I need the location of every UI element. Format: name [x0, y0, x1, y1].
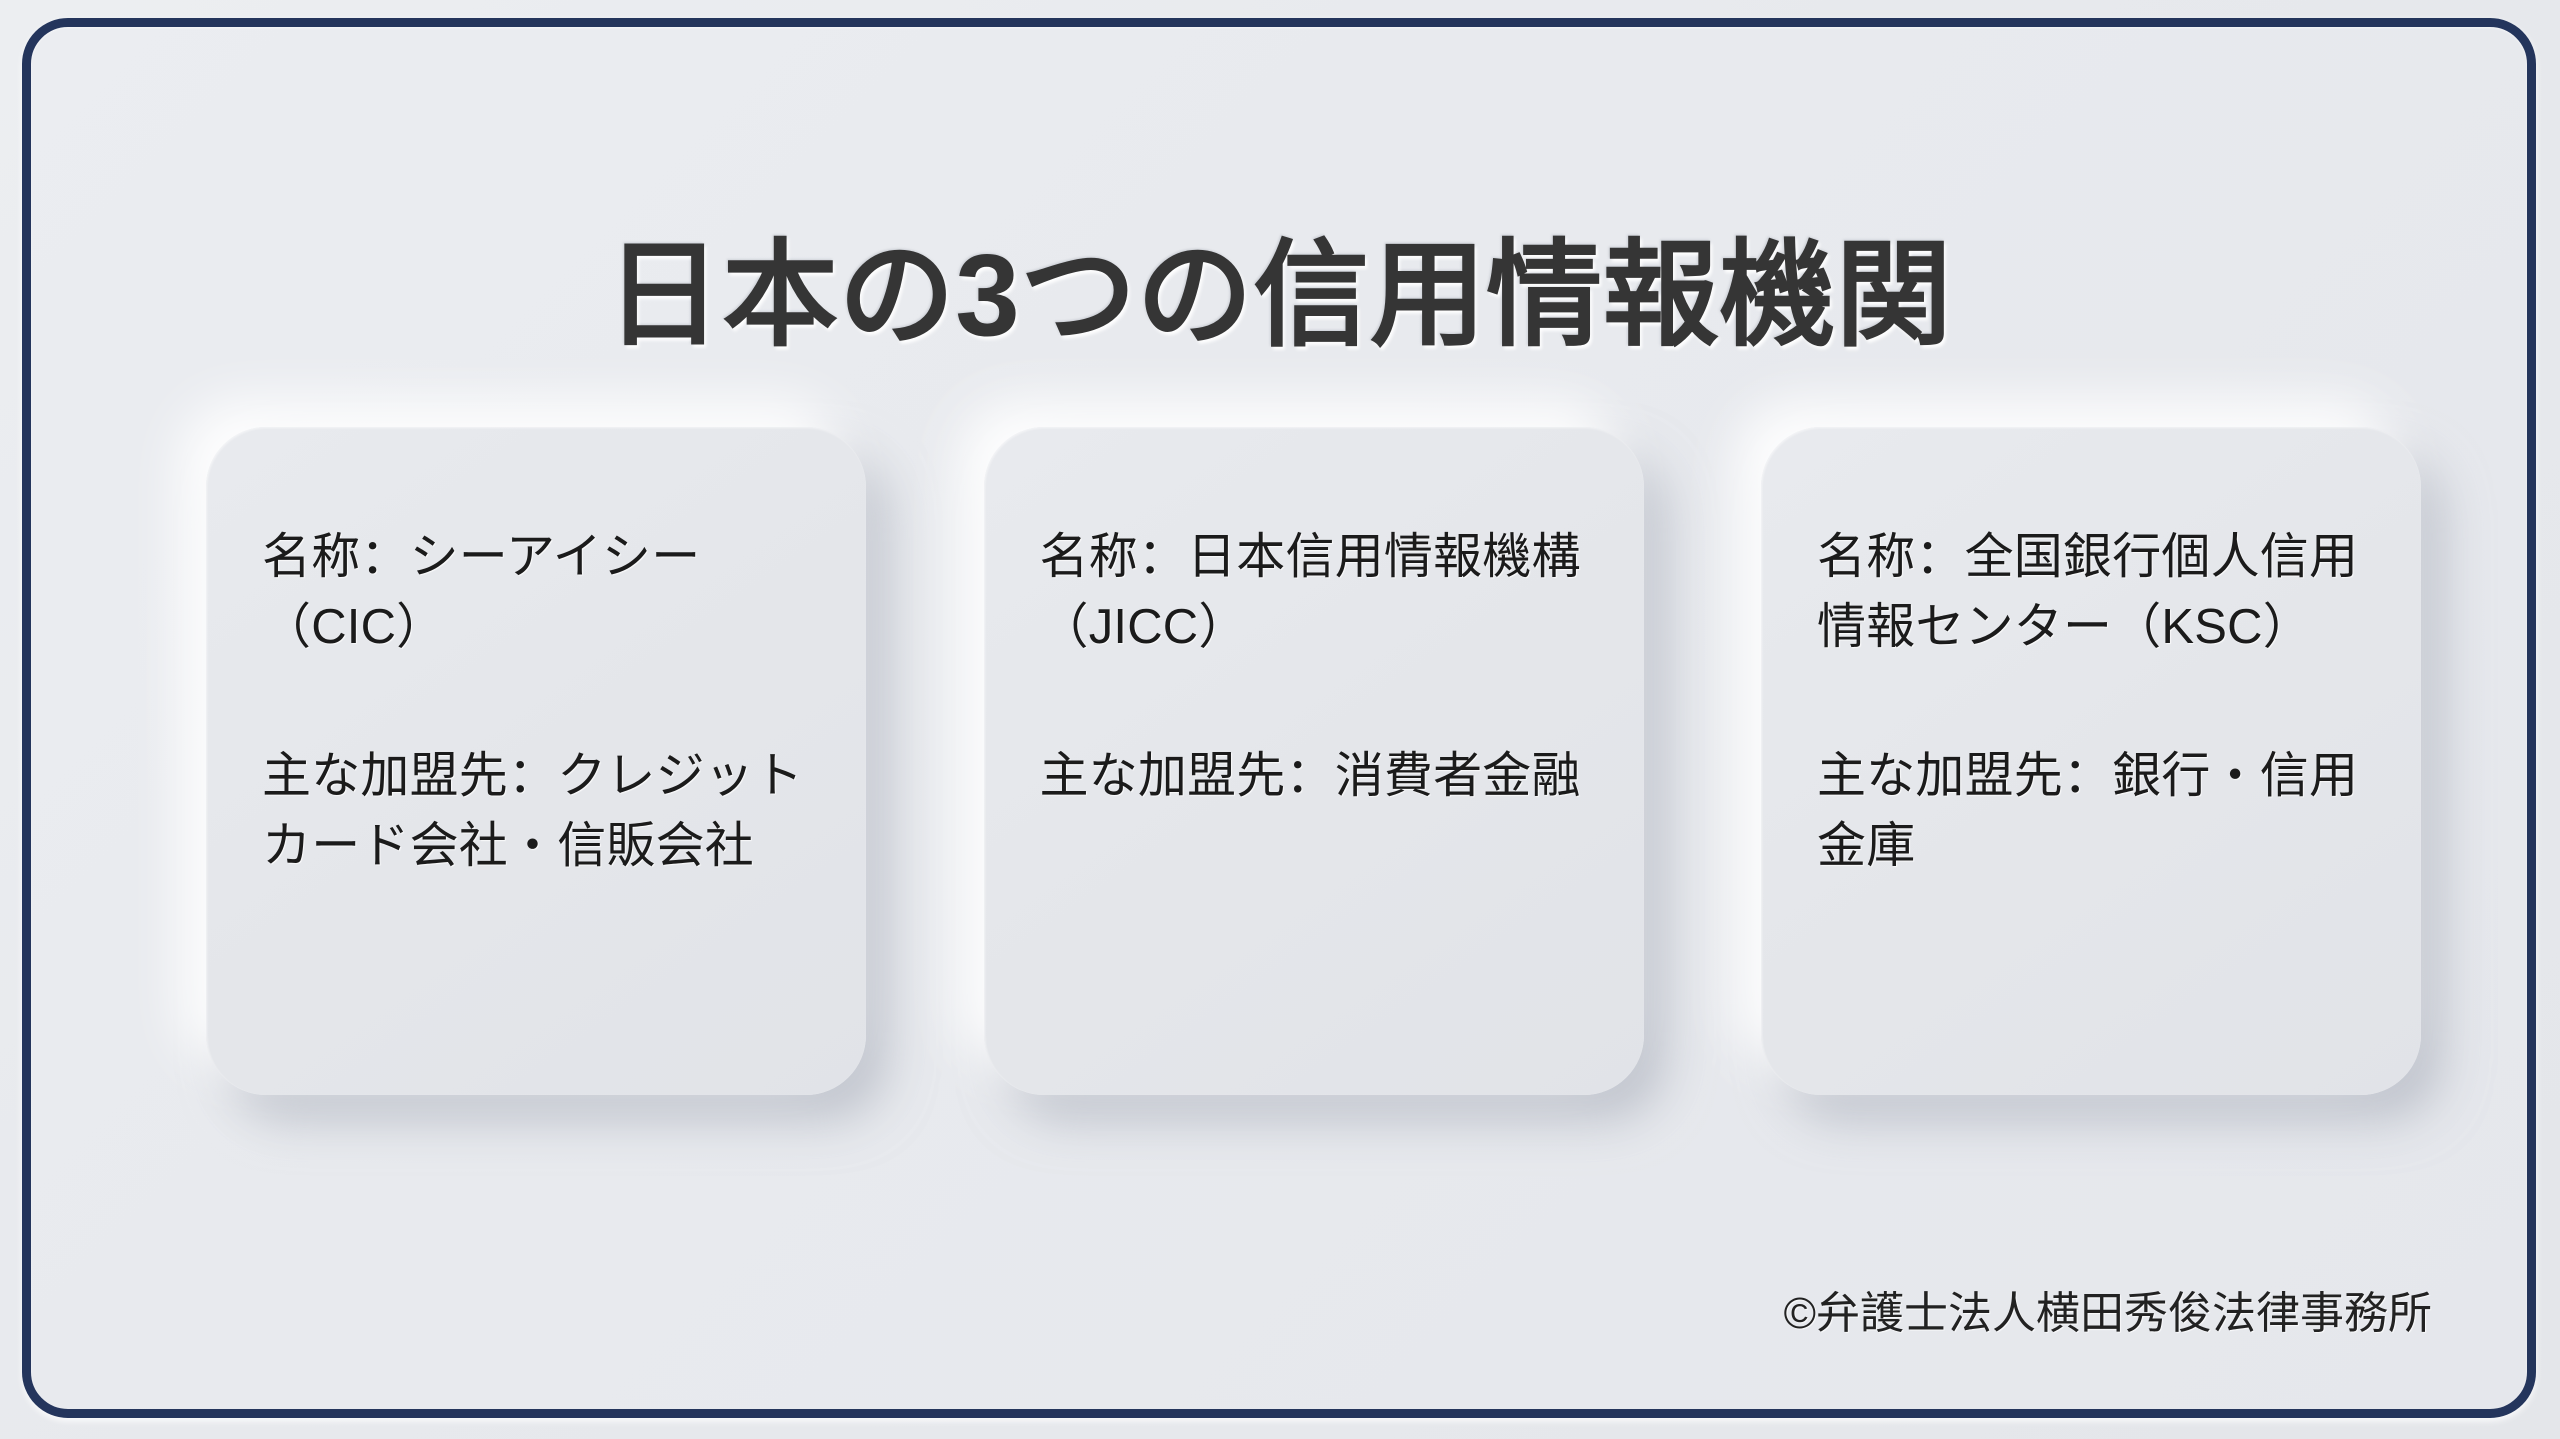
credit-bureau-card-cic: 名称：シーアイシー（CIC） 主な加盟先：クレジットカード会社・信販会社 [206, 427, 866, 1095]
copyright-notice: ©弁護士法人横田秀俊法律事務所 [1784, 1288, 2432, 1341]
card-name-line: 名称：全国銀行個人信用情報センター（KSC） [1817, 523, 2365, 662]
card-members-line: 主な加盟先：消費者金融 [1040, 742, 1588, 812]
card-name-line: 名称：シーアイシー（CIC） [262, 523, 810, 662]
card-members-line: 主な加盟先：銀行・信用金庫 [1817, 742, 2365, 881]
card-members-line: 主な加盟先：クレジットカード会社・信販会社 [262, 742, 810, 881]
credit-bureau-card-jicc: 名称：日本信用情報機構（JICC） 主な加盟先：消費者金融 [984, 427, 1644, 1095]
card-name-line: 名称：日本信用情報機構（JICC） [1040, 523, 1588, 662]
slide-frame: 日本の3つの信用情報機関 名称：シーアイシー（CIC） 主な加盟先：クレジットカ… [22, 18, 2536, 1418]
credit-bureau-card-row: 名称：シーアイシー（CIC） 主な加盟先：クレジットカード会社・信販会社 名称：… [206, 427, 2421, 1097]
slide-root: 日本の3つの信用情報機関 名称：シーアイシー（CIC） 主な加盟先：クレジットカ… [0, 0, 2560, 1439]
credit-bureau-card-ksc: 名称：全国銀行個人信用情報センター（KSC） 主な加盟先：銀行・信用金庫 [1761, 427, 2421, 1095]
page-title: 日本の3つの信用情報機関 [31, 237, 2527, 353]
